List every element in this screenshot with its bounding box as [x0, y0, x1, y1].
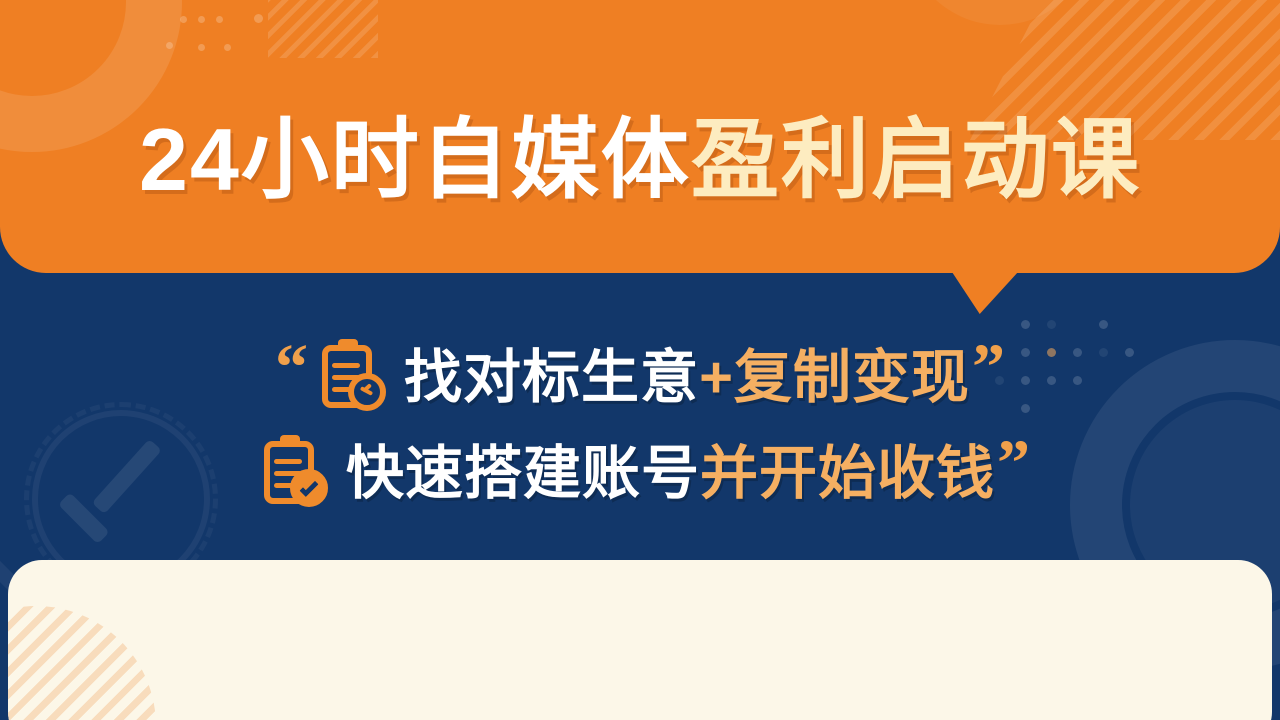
title-primary: 24小时自媒体 — [139, 110, 691, 209]
document-check-icon — [256, 435, 334, 513]
quote-text-2: 快速搭建账号并开始收钱 — [346, 445, 995, 503]
quote-text-1: 找对标生意+复制变现 — [404, 349, 970, 407]
open-quote-mark-1: “ — [275, 348, 308, 388]
quote-lines: “ 找对标生意+复制变现 ” — [0, 330, 1280, 522]
document-search-icon — [314, 339, 392, 417]
page-title: 24小时自媒体盈利启动课 — [0, 116, 1280, 204]
quote-white-2: 快速搭建账号 — [346, 441, 700, 506]
banner-dot-matrix — [180, 0, 300, 48]
close-quote-mark-2: ” — [997, 444, 1030, 484]
quote-white-1: 找对标生意 — [404, 345, 699, 410]
quote-accent-1: +复制变现 — [699, 345, 970, 410]
quote-accent-2: 并开始收钱 — [700, 441, 995, 506]
quote-line-2: 快速搭建账号并开始收钱 ” — [0, 426, 1280, 522]
striped-circle-decoration — [8, 606, 156, 720]
promo-poster: 24小时自媒体盈利启动课 “ 找对标生意+复制变现 ” — [0, 0, 1280, 720]
title-secondary: 盈利启动课 — [691, 110, 1141, 209]
close-quote-mark-1: ” — [972, 348, 1005, 388]
quote-line-1: “ 找对标生意+复制变现 ” — [0, 330, 1280, 426]
bottom-card — [8, 560, 1272, 720]
